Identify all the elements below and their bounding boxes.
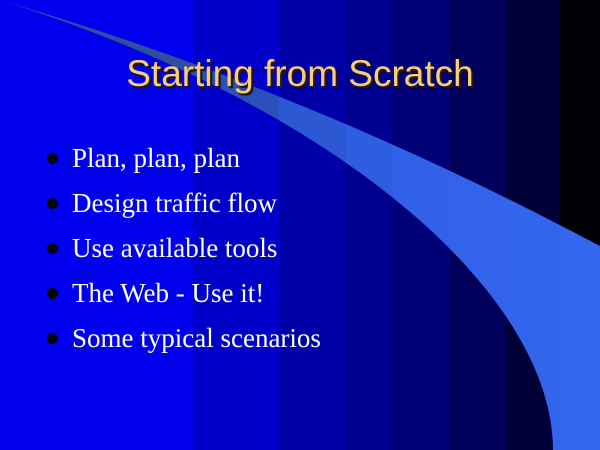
slide-title: Starting from Scratch (0, 52, 600, 96)
list-item-label: Design traffic flow (72, 185, 277, 221)
list-item: Design traffic flow (44, 185, 560, 230)
bullet-list: Plan, plan, plan Design traffic flow Use… (44, 140, 560, 365)
slide-content: Starting from Scratch Plan, plan, plan D… (0, 0, 600, 450)
list-item-label: Use available tools (72, 230, 277, 266)
list-item-label: The Web - Use it! (72, 275, 264, 311)
filled-circle-bullet-icon (47, 198, 58, 209)
list-item-label: Plan, plan, plan (72, 140, 240, 176)
filled-circle-bullet-icon (47, 243, 58, 254)
list-item: Use available tools (44, 230, 560, 275)
filled-circle-bullet-icon (47, 333, 58, 344)
filled-circle-bullet-icon (47, 288, 58, 299)
list-item: The Web - Use it! (44, 275, 560, 320)
list-item: Some typical scenarios (44, 320, 560, 365)
filled-circle-bullet-icon (47, 153, 58, 164)
list-item-label: Some typical scenarios (72, 320, 321, 356)
list-item: Plan, plan, plan (44, 140, 560, 185)
presentation-slide: Starting from Scratch Plan, plan, plan D… (0, 0, 600, 450)
